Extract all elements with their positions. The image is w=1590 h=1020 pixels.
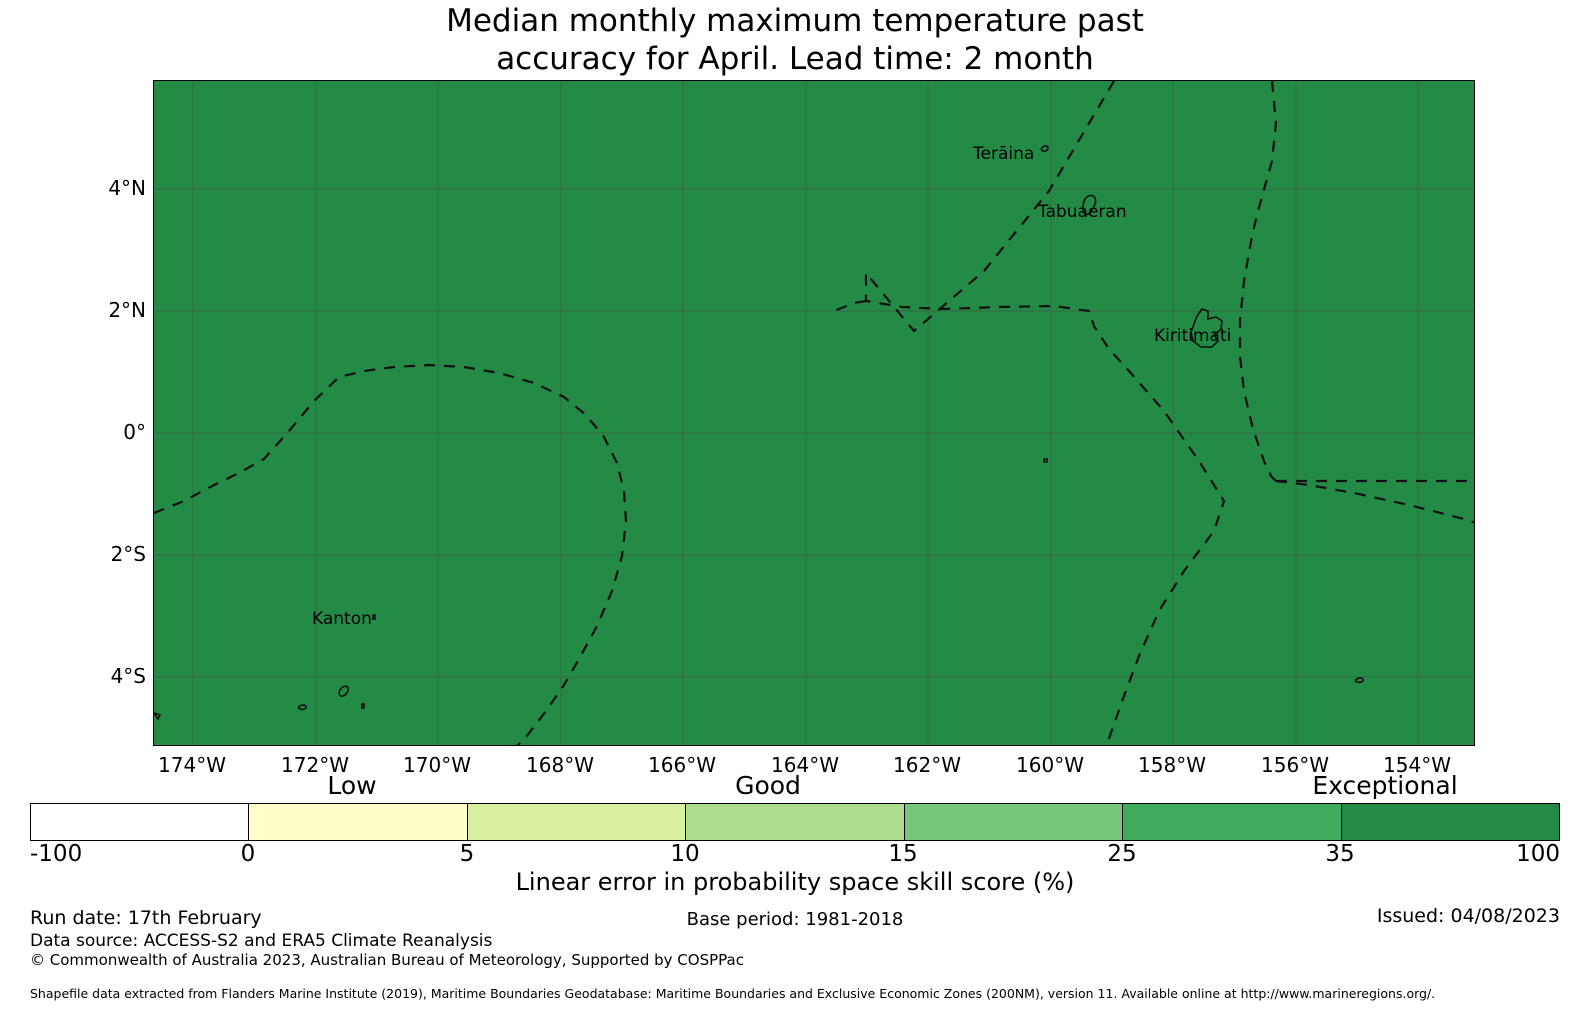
y-tick-2n: 2°N [76,300,146,320]
place-label-tabuaeran: Tabuaeran [1038,202,1127,222]
colorbar-segment [468,804,686,840]
x-tick-170w: 170°W [377,754,497,776]
place-label-kiritimati: Kiritimati [1154,326,1231,346]
x-tick-168w: 168°W [500,754,620,776]
colorbar-tick-10: 10 [670,841,699,867]
footer-data-source: Data source: ACCESS-S2 and ERA5 Climate … [30,931,492,952]
category-label-good: Good [735,772,801,800]
colorbar-segment [249,804,467,840]
y-tick-2s: 2°S [76,544,146,564]
x-tick-166w: 166°W [622,754,742,776]
eez-boundary-lines [154,81,1475,746]
x-tick-162w: 162°W [867,754,987,776]
colorbar-tick-100: 100 [1516,841,1560,867]
place-label-teraina: Terāina [973,144,1034,164]
footer-issued-date: Issued: 04/08/2023 [1377,905,1560,928]
map-gridlines [154,81,1475,746]
colorbar-tick-minus100: -100 [30,841,82,867]
colorbar-segment [905,804,1123,840]
x-tick-174w: 174°W [132,754,252,776]
colorbar-tick-25: 25 [1107,841,1136,867]
island-outlines [154,146,1363,719]
colorbar-title: Linear error in probability space skill … [0,868,1590,896]
colorbar-tick-15: 15 [888,841,917,867]
colorbar-segment [31,804,249,840]
place-label-kanton: Kanton [312,609,372,629]
colorbar-segment [1123,804,1341,840]
category-label-low: Low [327,772,376,800]
footer-copyright: © Commonwealth of Australia 2023, Austra… [30,951,744,970]
x-tick-158w: 158°W [1112,754,1232,776]
colorbar-tick-0: 0 [241,841,256,867]
footer-shapefile-attribution: Shapefile data extracted from Flanders M… [30,986,1435,1002]
map-graphics [154,81,1475,746]
colorbar-segment [1342,804,1559,840]
colorbar-tick-5: 5 [460,841,475,867]
figure-root: Median monthly maximum temperature past … [0,0,1590,1020]
chart-title: Median monthly maximum temperature past … [0,0,1590,78]
y-tick-0: 0° [76,422,146,442]
colorbar-tick-35: 35 [1325,841,1354,867]
footer-base-period: Base period: 1981-2018 [0,909,1590,931]
x-tick-160w: 160°W [990,754,1110,776]
map-panel: Terāina Tabuaeran Kiritimati Kanton [153,80,1475,746]
colorbar-segment [686,804,904,840]
category-label-exceptional: Exceptional [1312,772,1457,800]
colorbar [30,803,1560,841]
y-tick-4s: 4°S [76,666,146,686]
y-tick-4n: 4°N [76,178,146,198]
